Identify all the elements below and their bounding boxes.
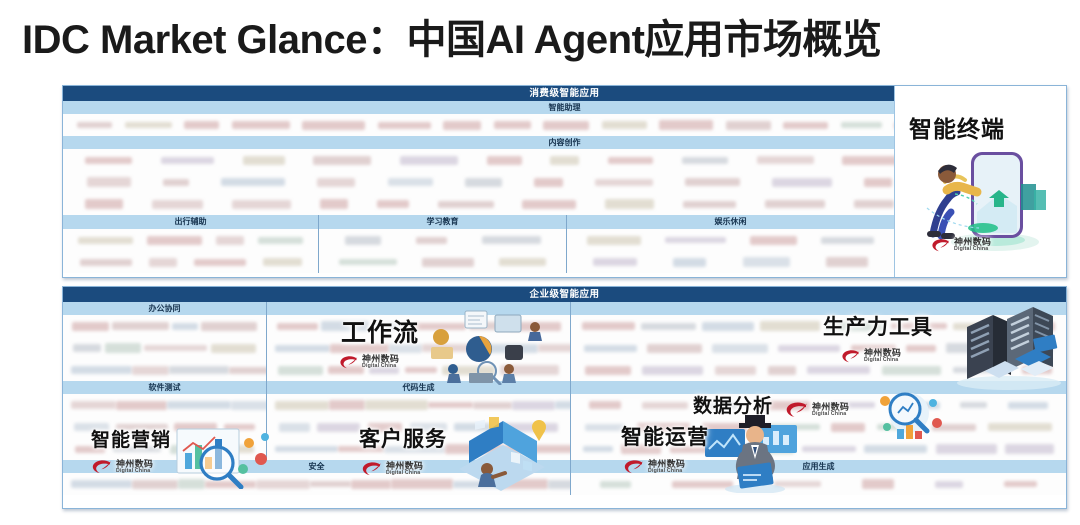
vendor-logo (473, 402, 512, 409)
vendor-logo (256, 480, 310, 489)
vendor-logo (405, 367, 437, 373)
vendor-logo (685, 178, 740, 186)
logo-row (63, 359, 266, 381)
vendor-logo (339, 259, 397, 265)
vendor-logo (378, 122, 431, 129)
bottom-logo-right (570, 416, 1066, 460)
vendor-logo (80, 259, 132, 266)
vendor-logo (608, 157, 653, 164)
vendor-logo (258, 237, 303, 244)
vendor-logo (659, 120, 713, 130)
smart-terminal-panel: 智能终端 (894, 86, 1066, 277)
enterprise-section: 企业级智能应用 办公协同 软件测试 代码生成 (62, 286, 1067, 509)
vendor-logo (483, 344, 538, 353)
logo-row (63, 229, 318, 251)
logo-grid-entertainment (567, 229, 894, 273)
logo-grid-education (319, 229, 566, 273)
vendor-logo (410, 423, 447, 431)
enterprise-bottom-band-group: 安全 应用生成 (63, 460, 1066, 495)
vendor-logo (841, 122, 882, 128)
vendor-logo (584, 345, 637, 352)
vendor-logo (768, 366, 796, 375)
vendor-logo (759, 401, 810, 410)
vendor-logo (896, 402, 940, 409)
vendor-logo (403, 323, 466, 330)
vendor-logo (765, 200, 825, 208)
vendor-logo (665, 237, 726, 243)
vendor-logo (112, 322, 169, 330)
vendor-logo (132, 480, 178, 489)
logo-row (571, 315, 1066, 337)
vendor-logo (503, 445, 529, 454)
vendor-logo (71, 480, 132, 488)
vendor-logo (743, 257, 790, 267)
logo-row (319, 229, 566, 251)
logo-grid-workflow (267, 315, 570, 381)
vendor-logo (167, 401, 231, 409)
vendor-logo (174, 423, 217, 431)
band-label-app-generation: 应用生成 (571, 460, 1066, 473)
consumer-column-travel: 出行辅助 (63, 215, 318, 273)
vendor-logo (682, 157, 728, 164)
vendor-logo (320, 199, 348, 209)
vendor-logo (550, 156, 579, 165)
logo-row (267, 416, 570, 438)
logo-grid-code-generation (267, 394, 570, 416)
vendor-logo (715, 366, 756, 375)
logo-row (319, 251, 566, 273)
vendor-logo (936, 444, 997, 454)
vendor-logo (487, 156, 522, 165)
brand-name-en: Digital China (954, 247, 991, 252)
logo-row (267, 394, 570, 416)
vendor-logo (85, 157, 132, 164)
digital-china-logo: 神州数码 Digital China (931, 238, 991, 253)
vendor-logo (443, 121, 481, 130)
vendor-logo (877, 424, 920, 430)
vendor-logo (338, 446, 384, 452)
band-label-office-collab: 办公协同 (63, 302, 266, 315)
logo-grid-office-collab (63, 315, 266, 381)
vendor-logo (85, 199, 123, 209)
vendor-logo (263, 258, 302, 266)
consumer-section: 消费级智能应用 智能助理 内容创作 出行辅助 学习教育 娱乐休闲 智能终端 (62, 85, 1067, 278)
vendor-logo (278, 366, 323, 375)
logo-row (571, 394, 1066, 416)
vendor-logo (534, 178, 563, 187)
vendor-logo (72, 322, 109, 331)
vendor-logo (935, 481, 963, 488)
logo-row (267, 438, 570, 460)
vendor-logo (75, 446, 105, 453)
vendor-logo (585, 366, 631, 375)
vendor-logo (500, 365, 559, 375)
vendor-logo (205, 481, 256, 488)
vendor-logo (365, 400, 428, 410)
logo-row (63, 337, 266, 359)
vendor-logo (321, 321, 369, 331)
vendor-logo (422, 258, 474, 267)
vendor-logo (149, 258, 177, 267)
vendor-logo (330, 344, 389, 353)
vendor-logo (116, 424, 168, 430)
vendor-logo (384, 446, 445, 453)
vendor-logo (144, 345, 207, 351)
vendor-logo (683, 201, 736, 208)
vendor-logo (522, 200, 576, 209)
vendor-logo (216, 236, 244, 245)
logo-row (63, 394, 266, 416)
vendor-logo (593, 258, 637, 266)
logo-grid-security (63, 473, 570, 495)
consumer-column-education: 学习教育 (318, 215, 566, 273)
logo-row (571, 337, 1066, 359)
vendor-logo (501, 479, 548, 489)
vendor-logo (232, 121, 290, 129)
bottom-band-security: 安全 (63, 460, 570, 495)
vendor-logo (712, 344, 768, 353)
vendor-logo (243, 156, 285, 165)
vendor-logo (831, 423, 865, 432)
vendor-logo (851, 345, 896, 351)
vendor-logo (275, 401, 329, 410)
page-title: IDC Market Glance：中国AI Agent应用市场概览 (22, 16, 1062, 64)
vendor-logo (953, 367, 1011, 373)
vendor-logo (512, 401, 555, 410)
enterprise-column-middle: 代码生成 (266, 302, 570, 416)
vendor-logo (702, 322, 754, 331)
vendor-logo (826, 257, 868, 267)
vendor-logo (642, 366, 703, 375)
vendor-logo (647, 344, 702, 353)
vendor-logo (224, 424, 255, 430)
vendor-logo (637, 423, 690, 432)
vendor-logo (211, 344, 256, 353)
vendor-logo (232, 200, 291, 209)
vendor-logo (932, 424, 976, 431)
vendor-logo (826, 322, 885, 331)
vendor-logo (345, 236, 381, 245)
logo-row (267, 315, 570, 337)
vendor-logo (862, 479, 894, 489)
bottom-logo-middle (266, 416, 570, 460)
vendor-logo (329, 400, 365, 410)
market-glance-poster: IDC Market Glance：中国AI Agent应用市场概览 消费级智能… (0, 0, 1080, 525)
vendor-logo (194, 259, 246, 266)
vendor-logo (152, 200, 203, 209)
vendor-logo (772, 178, 832, 187)
logo-row (571, 359, 1066, 381)
vendor-logo (585, 424, 625, 431)
vendor-logo (391, 479, 453, 489)
digital-china-swirl-icon (931, 238, 951, 253)
enterprise-column-left: 办公协同 软件测试 (63, 302, 266, 416)
vendor-logo (279, 423, 310, 432)
vendor-logo (147, 236, 202, 245)
vendor-logo (821, 237, 874, 244)
vendor-logo (1008, 402, 1048, 409)
enterprise-section-header: 企业级智能应用 (63, 287, 1066, 302)
vendor-logo (400, 156, 458, 165)
vendor-logo (641, 323, 696, 330)
vendor-logo (670, 446, 727, 453)
vendor-logo (708, 402, 738, 409)
vendor-logo (778, 345, 840, 352)
vendor-logo (163, 179, 189, 186)
logo-row (571, 416, 1066, 438)
band-label-travel: 出行辅助 (63, 215, 318, 229)
vendor-logo (1022, 366, 1052, 374)
vendor-logo (428, 402, 473, 408)
band-label-right-top (571, 302, 1066, 315)
vendor-logo (1001, 344, 1053, 352)
vendor-logo (277, 323, 318, 330)
band-label-education: 学习教育 (319, 215, 566, 229)
vendor-logo (842, 156, 898, 165)
vendor-logo (854, 200, 894, 208)
vendor-logo (78, 237, 133, 244)
logo-row (63, 473, 570, 495)
enterprise-bottom-logo-group (63, 416, 1066, 460)
vendor-logo (161, 157, 214, 164)
vendor-logo (673, 258, 706, 267)
vendor-logo (891, 323, 947, 329)
vendor-logo (499, 423, 558, 432)
vendor-logo (73, 344, 101, 352)
vendor-logo (317, 178, 355, 187)
vendor-logo (499, 258, 546, 266)
vendor-logo (454, 423, 491, 431)
vendor-logo (313, 156, 371, 165)
vendor-logo (759, 424, 820, 430)
vendor-logo (422, 344, 483, 352)
vendor-logo (389, 344, 422, 353)
vendor-logo (201, 322, 257, 331)
vendor-logo (960, 402, 987, 408)
vendor-logo (275, 345, 330, 352)
vendor-logo (946, 343, 991, 353)
logo-row (63, 438, 266, 460)
vendor-logo (74, 423, 109, 431)
logo-row (63, 251, 318, 273)
vendor-logo (416, 237, 447, 244)
vendor-logo (184, 121, 219, 129)
vendor-logo (802, 446, 856, 452)
band-label-code-generation: 代码生成 (267, 381, 570, 394)
vendor-logo (602, 121, 647, 129)
vendor-logo (178, 479, 205, 489)
vendor-logo (388, 178, 433, 186)
vendor-logo (595, 179, 653, 186)
vendor-logo (750, 236, 797, 245)
vendor-logo (702, 423, 747, 432)
vendor-logo (317, 423, 360, 432)
logo-row (567, 229, 894, 251)
vendor-logo (302, 121, 365, 130)
vendor-logo (587, 236, 641, 245)
logo-grid-marketing (63, 416, 266, 460)
vendor-logo (988, 423, 1052, 431)
vendor-logo (125, 122, 172, 128)
vendor-logo (105, 343, 141, 353)
logo-grid-operations (571, 416, 1066, 460)
vendor-logo (494, 121, 531, 129)
vendor-logo (372, 323, 400, 330)
band-label-entertainment: 娱乐休闲 (567, 215, 894, 229)
vendor-logo (1005, 444, 1054, 454)
band-label-middle-top (267, 302, 570, 315)
consumer-column-entertainment: 娱乐休闲 (566, 215, 894, 273)
vendor-logo (582, 322, 635, 330)
vendor-logo (369, 367, 399, 374)
vendor-logo (807, 366, 870, 374)
vendor-logo (169, 366, 229, 374)
vendor-logo (172, 323, 198, 330)
vendor-logo (882, 366, 941, 375)
vendor-logo (600, 481, 631, 488)
logo-row (63, 315, 266, 337)
logo-row (267, 337, 570, 359)
band-label-right-second (571, 381, 1066, 394)
vendor-logo (783, 122, 828, 129)
vendor-logo (223, 445, 254, 453)
vendor-logo (583, 446, 613, 452)
vendor-logo (77, 122, 112, 128)
vendor-logo (71, 401, 116, 409)
vendor-logo (642, 402, 688, 409)
vendor-logo (170, 445, 215, 454)
vendor-logo (221, 178, 285, 186)
vendor-logo (864, 445, 927, 453)
band-label-software-test: 软件测试 (63, 381, 266, 394)
vendor-logo (482, 236, 541, 244)
vendor-logo (132, 366, 169, 375)
logo-row (567, 251, 894, 273)
logo-grid-data-analysis (571, 394, 1066, 416)
vendor-logo (377, 200, 409, 208)
vendor-logo (328, 366, 364, 374)
vendor-logo (469, 322, 506, 330)
logo-row (63, 416, 266, 438)
logo-grid-customer-service (267, 416, 570, 460)
vendor-logo (543, 121, 589, 130)
vendor-logo (830, 402, 875, 408)
enterprise-column-group: 办公协同 软件测试 代码生成 (63, 302, 1066, 416)
vendor-logo (726, 121, 771, 130)
vendor-logo (735, 445, 794, 454)
vendor-logo (465, 178, 502, 187)
vendor-logo (116, 401, 167, 410)
vendor-logo (953, 323, 1013, 330)
bottom-band-app-generation: 应用生成 (570, 460, 1066, 495)
logo-row (571, 438, 1066, 460)
vendor-logo (453, 481, 501, 488)
band-label-security: 安全 (63, 460, 570, 473)
logo-grid-travel (63, 229, 318, 273)
vendor-logo (509, 322, 561, 331)
logo-row (571, 473, 1066, 495)
vendor-logo (906, 345, 936, 352)
enterprise-column-right (570, 302, 1066, 416)
vendor-logo (113, 446, 161, 452)
vendor-logo (71, 366, 132, 374)
vendor-logo (589, 401, 621, 409)
vendor-logo (757, 156, 814, 164)
vendor-logo (1019, 322, 1055, 331)
vendor-logo (864, 178, 892, 187)
vendor-logo (621, 444, 661, 454)
vendor-logo (605, 199, 654, 209)
vendor-logo (368, 423, 402, 432)
logo-grid-software-test (63, 394, 266, 416)
logo-grid-app-generation (571, 473, 1066, 495)
logo-row (267, 359, 570, 381)
vendor-logo (351, 480, 391, 489)
vendor-logo (445, 444, 503, 454)
vendor-logo (760, 321, 820, 331)
vendor-logo (438, 201, 494, 208)
bottom-logo-left (63, 416, 266, 460)
vendor-logo (87, 177, 131, 187)
vendor-logo (1004, 481, 1037, 487)
vendor-logo (774, 481, 821, 487)
vendor-logo (442, 366, 495, 375)
vendor-logo (275, 446, 338, 452)
vendor-logo (672, 481, 733, 488)
logo-grid-productivity (571, 315, 1066, 381)
vendor-logo (310, 481, 351, 487)
